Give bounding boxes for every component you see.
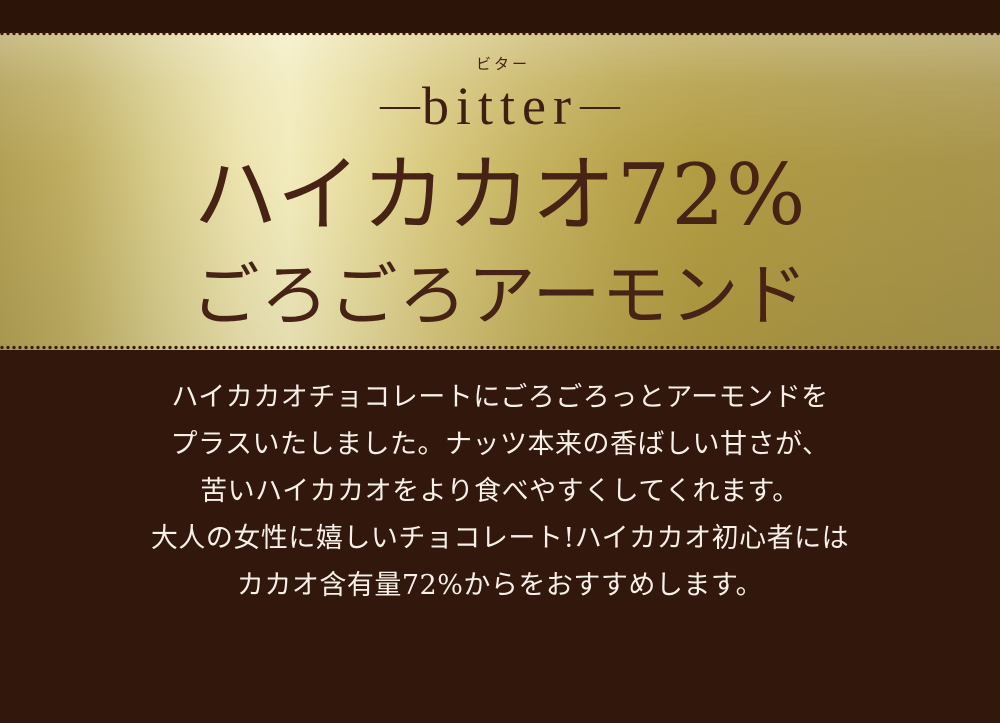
dotted-divider-top [0, 31, 1000, 36]
page-title-line-2: ごろごろアーモンド [0, 261, 1000, 332]
gold-panel-content: ビター —bitter— ハイカカオ72% ごろごろアーモンド [0, 33, 1000, 350]
ruby-annotation: ビター [0, 57, 1000, 72]
description-line: ハイカカオチョコレートにごろごろっとアーモンドを [0, 374, 1000, 421]
product-banner: ビター —bitter— ハイカカオ72% ごろごろアーモンド ハイカカオチョコ… [0, 0, 1000, 723]
eyebrow-word: bitter [420, 76, 580, 136]
description-block: ハイカカオチョコレートにごろごろっとアーモンドを プラスいたしました。ナッツ本来… [0, 374, 1000, 609]
top-dark-strip [0, 0, 1000, 33]
dotted-divider-bottom [0, 345, 1000, 350]
description-line: プラスいたしました。ナッツ本来の香ばしい甘さが、 [0, 421, 1000, 468]
eyebrow-bitter: —bitter— [0, 77, 1000, 136]
description-line: カカオ含有量72%からをおすすめします。 [0, 562, 1000, 609]
page-title-line-1: ハイカカオ72% [0, 151, 1000, 239]
description-line: 苦いハイカカオをより食べやすくしてくれます。 [0, 468, 1000, 515]
eyebrow-dash-right-icon: — [580, 82, 620, 127]
eyebrow-dash-left-icon: — [380, 82, 420, 127]
description-line: 大人の女性に嬉しいチョコレート!ハイカカオ初心者には [0, 515, 1000, 562]
ruby-text-bitter: ビター [6, 57, 1000, 72]
gold-panel: ビター —bitter— ハイカカオ72% ごろごろアーモンド [0, 33, 1000, 350]
